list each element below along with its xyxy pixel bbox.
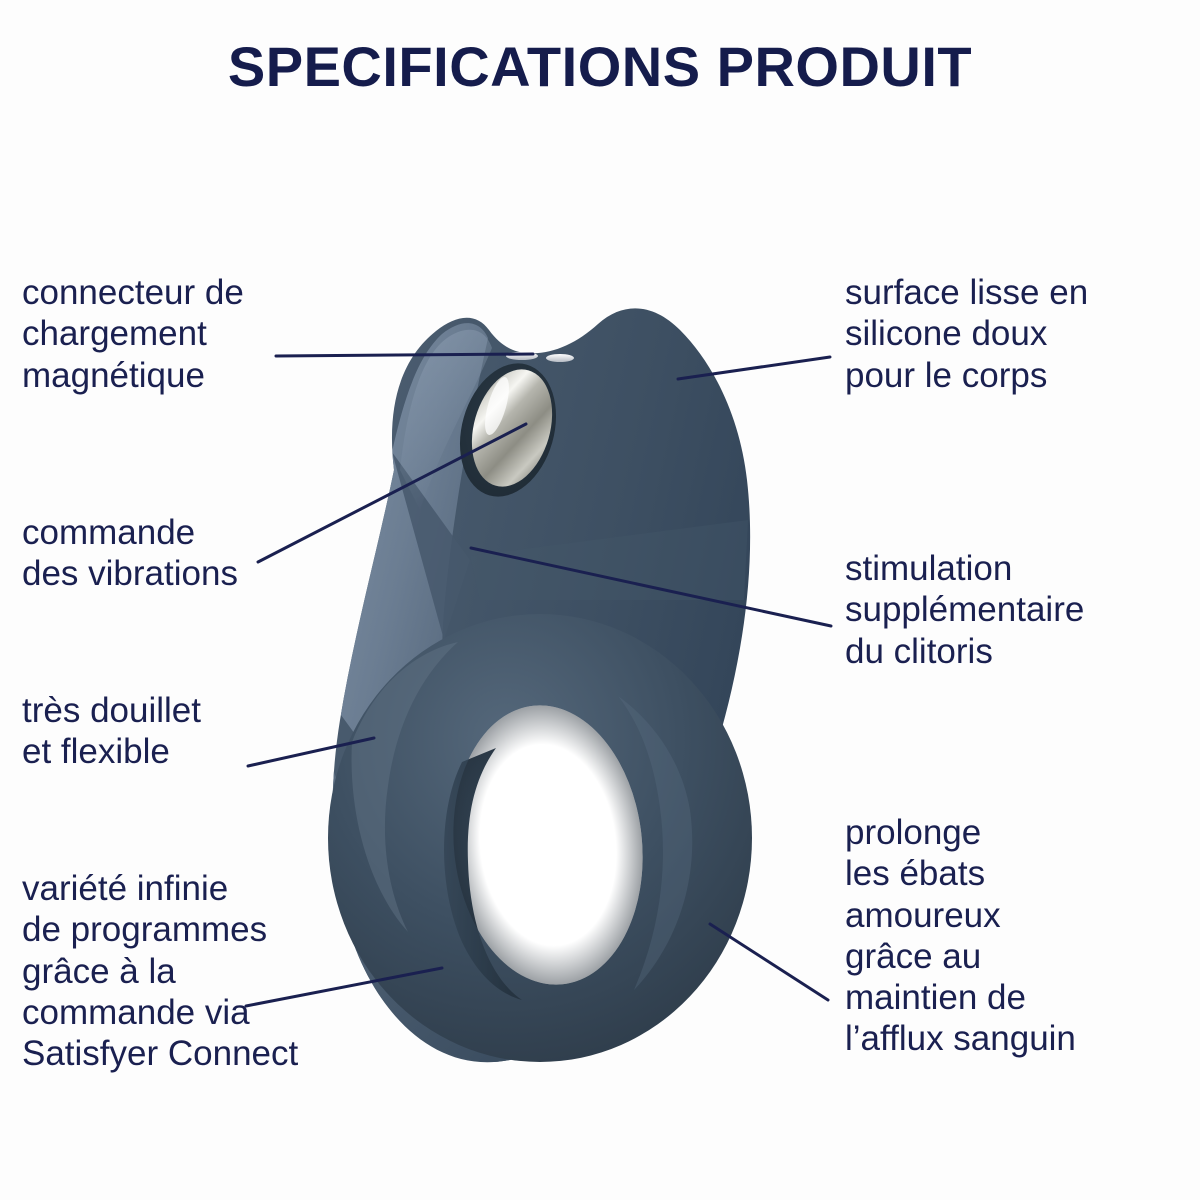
leader-line-prolonge-les-ebats-amoureux	[710, 924, 828, 1000]
callout-surface-lisse-en-silicone-doux: surface lisse en silicone doux pour le c…	[845, 272, 1195, 396]
callout-tres-douillet-et-flexible: très douillet et flexible	[22, 690, 352, 773]
callout-variete-infinie-de-programmes: variété infinie de programmes grâce à la…	[22, 868, 402, 1074]
charging-contact-right	[546, 354, 574, 362]
callout-stimulation-supplementaire-du-clitoris: stimulation supplémentaire du clitoris	[845, 548, 1200, 672]
callout-prolonge-les-ebats-amoureux: prolonge les ébats amoureux grâce au mai…	[845, 812, 1200, 1060]
callout-commande-des-vibrations: commande des vibrations	[22, 512, 352, 595]
product-specification-diagram: SPECIFICATIONS PRODUIT	[0, 0, 1200, 1200]
callout-connecteur-de-chargement-magnetique: connecteur de chargement magnétique	[22, 272, 352, 396]
